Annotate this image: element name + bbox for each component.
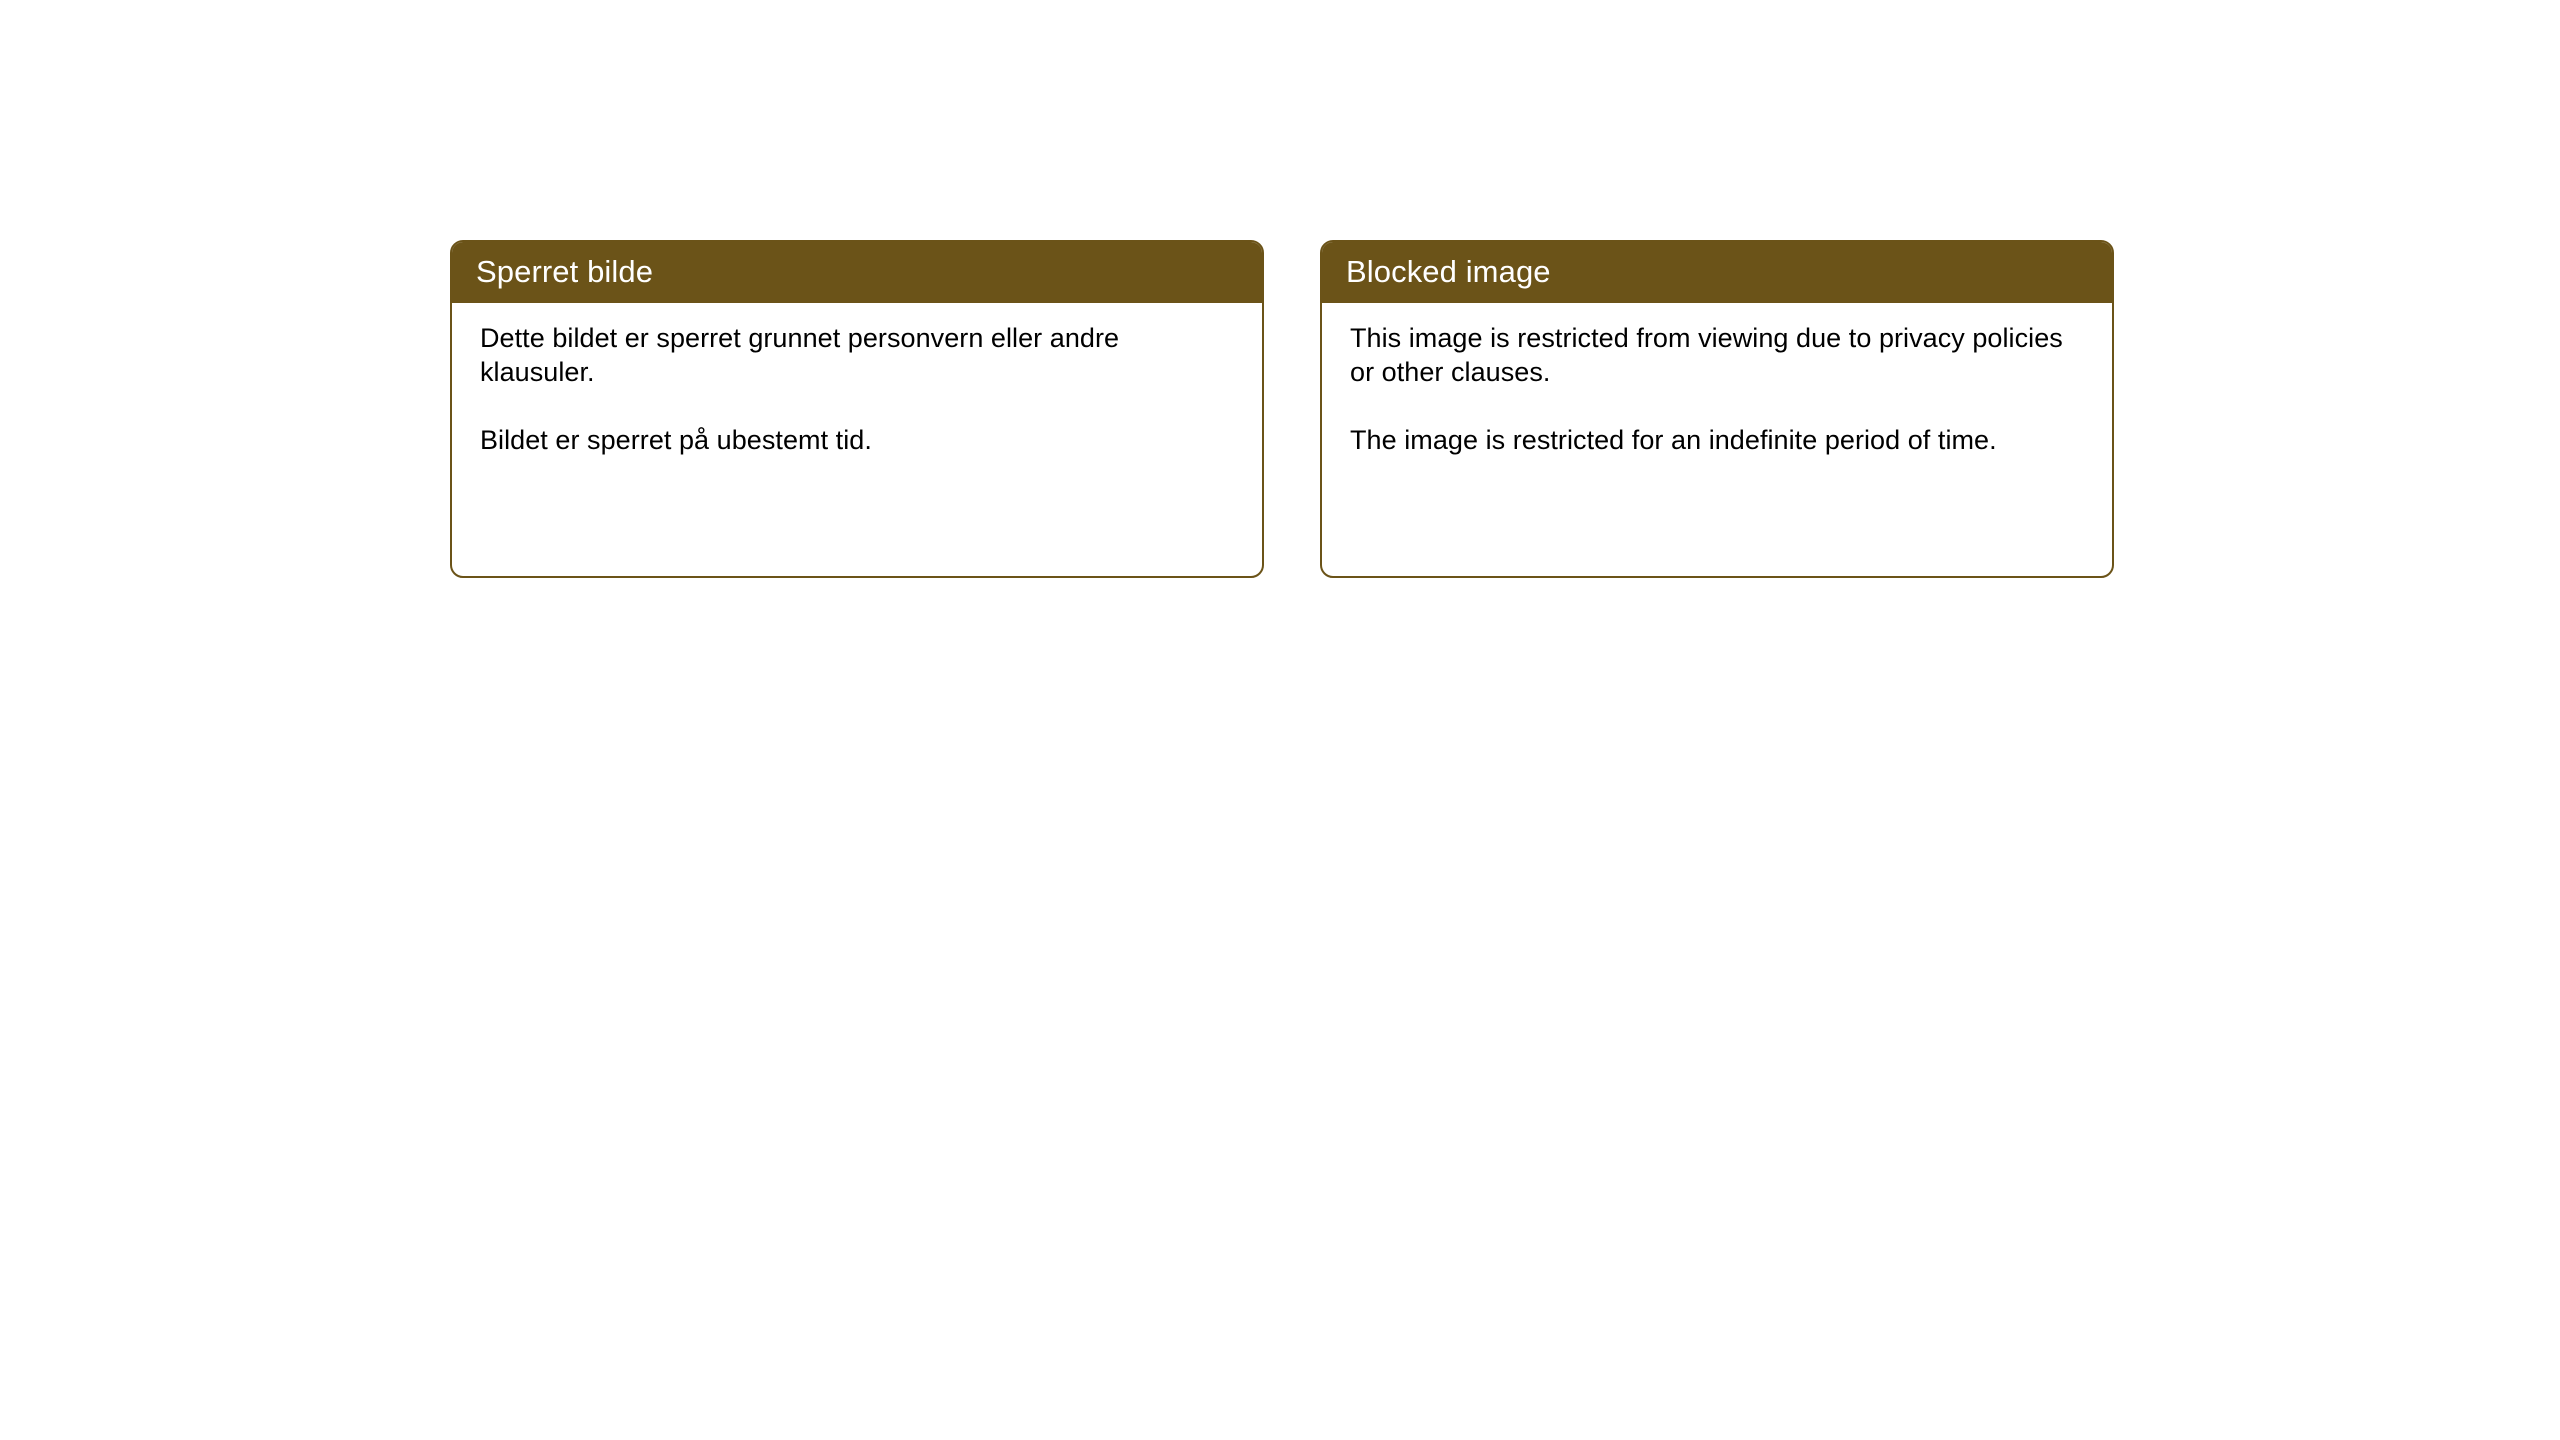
card-title-english: Blocked image xyxy=(1346,256,1551,287)
card-paragraph-primary-norwegian: Dette bildet er sperret grunnet personve… xyxy=(480,321,1240,389)
card-header-norwegian: Sperret bilde xyxy=(450,240,1264,303)
card-title-norwegian: Sperret bilde xyxy=(476,256,653,287)
card-paragraph-secondary-norwegian: Bildet er sperret på ubestemt tid. xyxy=(480,423,1240,457)
card-paragraph-secondary-english: The image is restricted for an indefinit… xyxy=(1350,423,2090,457)
card-body-english: This image is restricted from viewing du… xyxy=(1322,303,2112,457)
blocked-image-notice-card-english: Blocked image This image is restricted f… xyxy=(1320,240,2114,578)
card-paragraph-primary-english: This image is restricted from viewing du… xyxy=(1350,321,2090,389)
card-body-norwegian: Dette bildet er sperret grunnet personve… xyxy=(452,303,1262,457)
card-header-english: Blocked image xyxy=(1320,240,2114,303)
blocked-image-notice-card-norwegian: Sperret bilde Dette bildet er sperret gr… xyxy=(450,240,1264,578)
page-root: Sperret bilde Dette bildet er sperret gr… xyxy=(0,0,2560,1440)
